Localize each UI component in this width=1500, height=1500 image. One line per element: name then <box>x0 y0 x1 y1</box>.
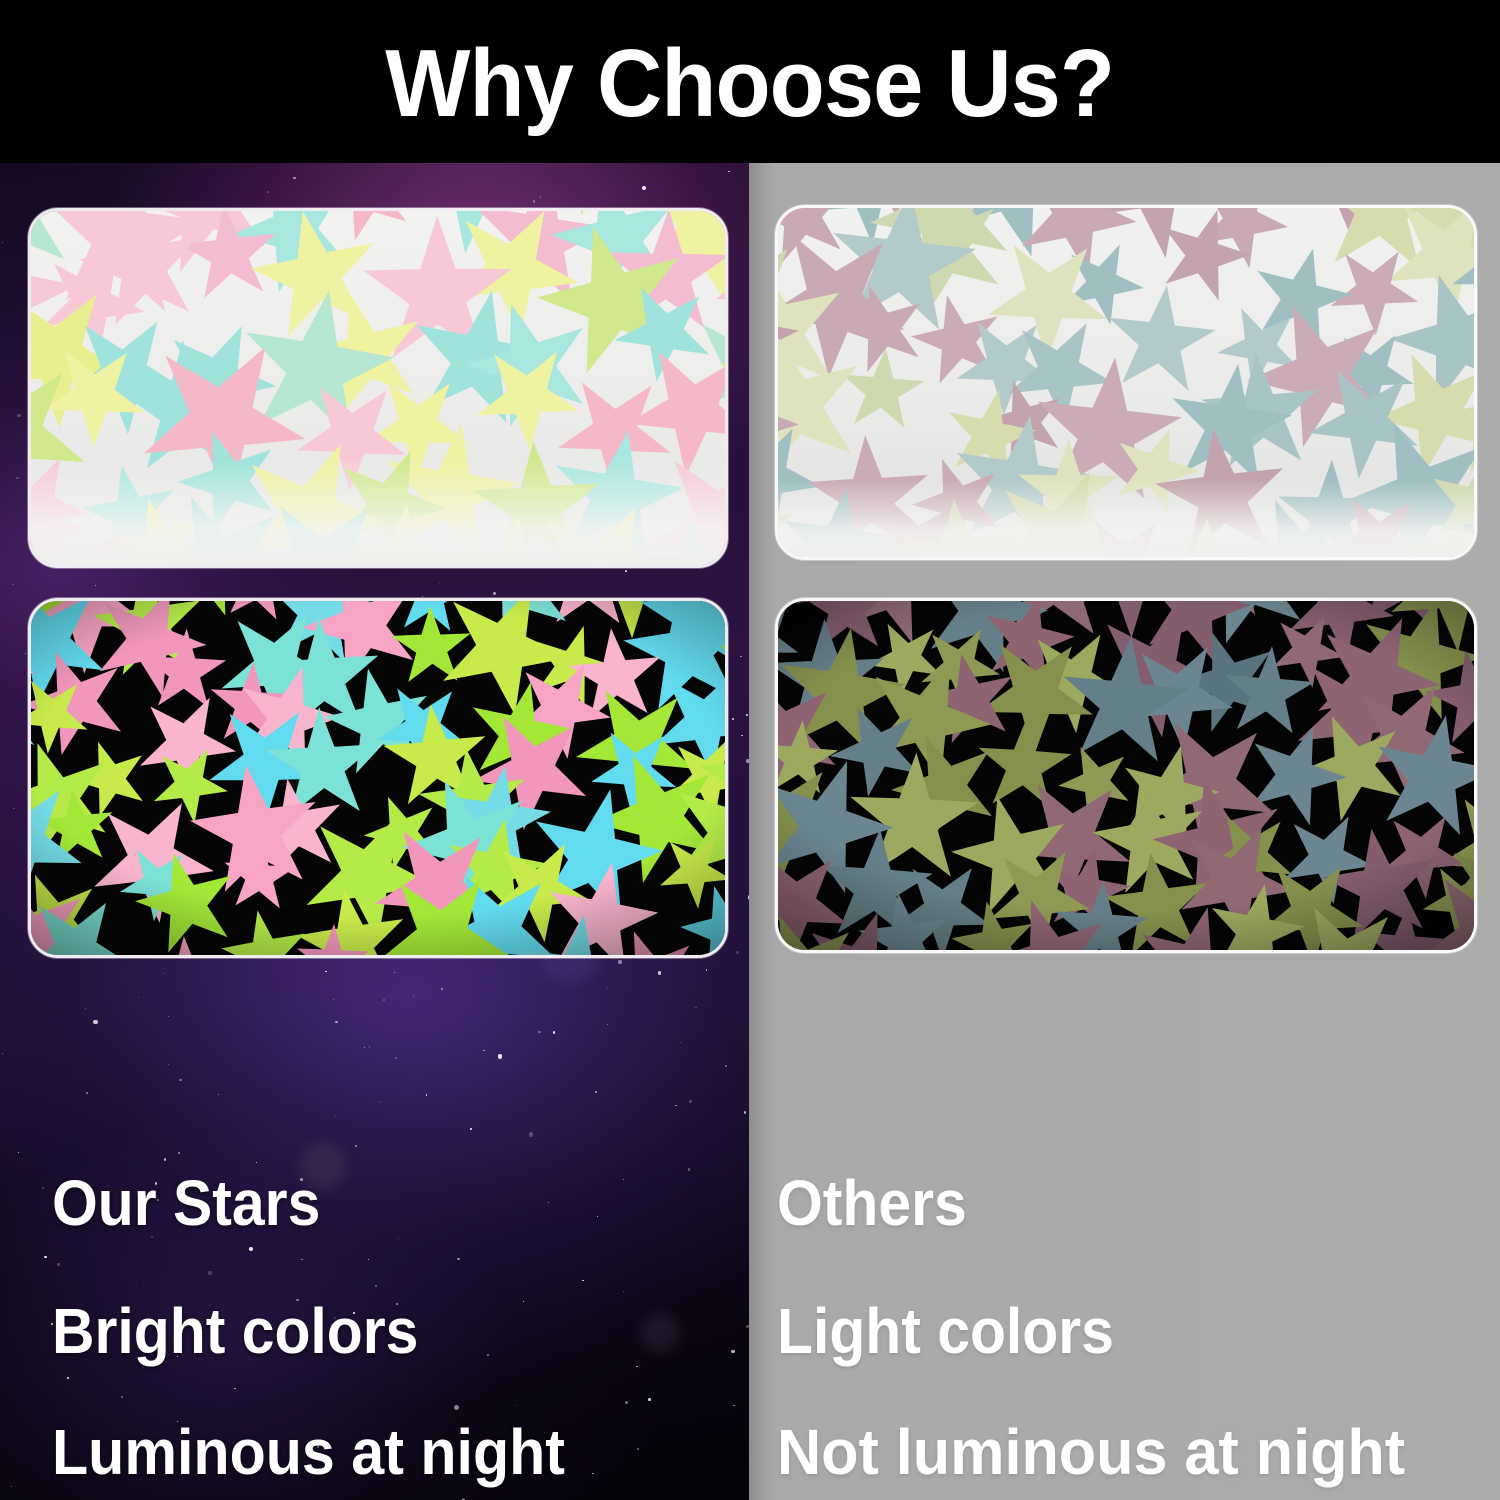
star-shape <box>835 344 928 437</box>
photo-our-stars-night <box>28 598 728 958</box>
page-title: Why Choose Us? <box>386 36 1115 132</box>
right-feature-0: Others <box>777 1171 967 1235</box>
left-feature-2: Luminous at night <box>52 1420 565 1484</box>
left-feature-1: Bright colors <box>52 1299 418 1363</box>
photo-canvas <box>778 601 1474 950</box>
photo-canvas <box>31 601 725 955</box>
photo-our-stars-daylight <box>28 208 728 568</box>
photo-canvas <box>778 208 1474 557</box>
photo-others-night <box>775 598 1477 953</box>
header-banner: Why Choose Us? <box>0 0 1500 163</box>
photo-others-daylight <box>775 205 1477 560</box>
photo-canvas <box>31 211 725 565</box>
star-shape <box>205 895 326 955</box>
left-column-our-product: Our Stars Bright colors Luminous at nigh… <box>0 163 749 1500</box>
right-feature-2: Not luminous at night <box>777 1420 1405 1484</box>
left-feature-0: Our Stars <box>52 1171 320 1235</box>
right-feature-1: Light colors <box>777 1299 1114 1363</box>
comparison-infographic: Why Choose Us? Our Stars Bright colors L… <box>0 0 1500 1500</box>
right-column-others: Others Light colors Not luminous at nigh… <box>749 163 1500 1500</box>
